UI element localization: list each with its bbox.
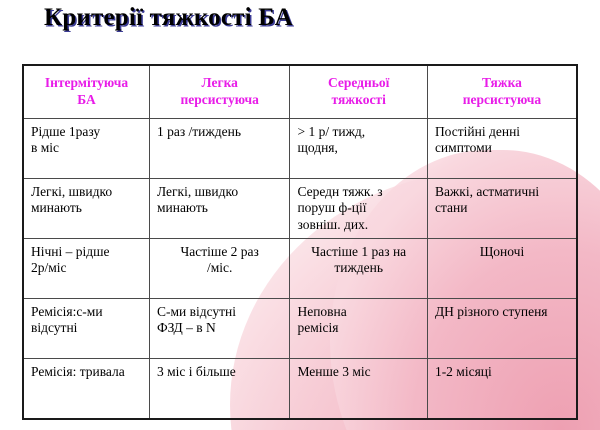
table-cell-line: симптоми	[435, 140, 569, 156]
table-cell-line: Ремісія:с-ми	[31, 304, 142, 320]
table-cell-line: Рідше 1разу	[31, 124, 142, 140]
table-row: Рідше 1разу в міс1 раз /тиждень> 1 р/ ти…	[23, 119, 577, 179]
column-header-line: Інтермітуюча	[28, 75, 145, 92]
table-cell: ДН різного ступеня	[427, 299, 577, 359]
table-cell-line: > 1 р/ тижд,	[297, 124, 419, 140]
table-column-header-2: Легкаперсистуюча	[149, 65, 290, 119]
page-title: Критерії тяжкості БА	[44, 4, 293, 32]
table-cell-line: Легкі, швидко	[157, 184, 283, 200]
table-cell: Неповнаремісія	[290, 299, 427, 359]
table-cell: Нічні – рідше2р/міс	[23, 239, 149, 299]
table-cell: Ремісія: тривала	[23, 359, 149, 420]
table-cell-line: зовніш. дих.	[297, 217, 419, 233]
column-header-line: БА	[28, 92, 145, 109]
table-cell-line: 1 раз /тиждень	[157, 124, 283, 140]
table-cell-line: 2р/міс	[31, 260, 142, 276]
table-cell: Частіше 2 раз/міс.	[149, 239, 290, 299]
column-header-line: Середньої	[294, 75, 422, 92]
table-cell-line: 3 міс і більше	[157, 364, 283, 380]
table-cell: С-ми відсутніФЗД – в N	[149, 299, 290, 359]
column-header-line: персистуюча	[154, 92, 286, 109]
table-cell-line: Неповна	[297, 304, 419, 320]
slide-canvas: Критерії тяжкості БА ІнтермітуючаБАЛегка…	[0, 0, 600, 430]
column-header-line: тяжкості	[294, 92, 422, 109]
table-header: ІнтермітуючаБАЛегкаперсистуючаСередньоїт…	[23, 65, 577, 119]
table-cell-line: Щоночі	[435, 244, 569, 260]
table-cell-line: Менше 3 міс	[297, 364, 419, 380]
table-cell-line: Нічні – рідше	[31, 244, 142, 260]
table-cell: Важкі, астматичністани	[427, 179, 577, 239]
table-column-header-1: ІнтермітуючаБА	[23, 65, 149, 119]
table-cell: 3 міс і більше	[149, 359, 290, 420]
table-cell: Частіше 1 раз натиждень	[290, 239, 427, 299]
table-row: Ремісія: тривала3 міс і більшеМенше 3 мі…	[23, 359, 577, 420]
table-cell: 1-2 місяці	[427, 359, 577, 420]
table-cell-line: Частіше 1 раз на	[297, 244, 419, 260]
table-cell-line: тиждень	[297, 260, 419, 276]
table-cell-line: Постійні денні	[435, 124, 569, 140]
table-cell-line: Легкі, швидко	[31, 184, 142, 200]
table-cell-line: ДН різного ступеня	[435, 304, 569, 320]
severity-criteria-table: ІнтермітуючаБАЛегкаперсистуючаСередньоїт…	[22, 64, 578, 420]
table-cell-line: минають	[31, 200, 142, 216]
table-cell: Постійні деннісимптоми	[427, 119, 577, 179]
table-cell-line: стани	[435, 200, 569, 216]
table-cell: Ремісія:с-мивідсутні	[23, 299, 149, 359]
table-cell: Легкі, швидкоминають	[23, 179, 149, 239]
table-cell-line: в міс	[31, 140, 142, 156]
column-header-line: Легка	[154, 75, 286, 92]
table-cell-line: 1-2 місяці	[435, 364, 569, 380]
table-cell-line: ремісія	[297, 320, 419, 336]
table-body: Рідше 1разу в міс1 раз /тиждень> 1 р/ ти…	[23, 119, 577, 420]
table-cell-line: минають	[157, 200, 283, 216]
table-cell: 1 раз /тиждень	[149, 119, 290, 179]
column-header-line: персистуюча	[432, 92, 572, 109]
table-cell: > 1 р/ тижд,щодня,	[290, 119, 427, 179]
table-column-header-3: Середньоїтяжкості	[290, 65, 427, 119]
table-cell-line: щодня,	[297, 140, 419, 156]
table-cell: Середн тяжк. зпоруш ф-ціїзовніш. дих.	[290, 179, 427, 239]
column-header-line: Тяжка	[432, 75, 572, 92]
table-cell: Рідше 1разу в міс	[23, 119, 149, 179]
table-cell: Менше 3 міс	[290, 359, 427, 420]
table-cell-line: Ремісія: тривала	[31, 364, 142, 380]
table-cell-line: С-ми відсутні	[157, 304, 283, 320]
table-row: Ремісія:с-мивідсутніС-ми відсутніФЗД – в…	[23, 299, 577, 359]
table-cell-line: Частіше 2 раз	[157, 244, 283, 260]
table-cell-line: /міс.	[157, 260, 283, 276]
table-header-row: ІнтермітуючаБАЛегкаперсистуючаСередньоїт…	[23, 65, 577, 119]
table-cell-line: поруш ф-ції	[297, 200, 419, 216]
table-cell-line: ФЗД – в N	[157, 320, 283, 336]
table-cell-line: Важкі, астматичні	[435, 184, 569, 200]
table-cell-line: відсутні	[31, 320, 142, 336]
table-cell-line: Середн тяжк. з	[297, 184, 419, 200]
table-cell: Легкі, швидкоминають	[149, 179, 290, 239]
table-cell: Щоночі	[427, 239, 577, 299]
table-column-header-4: Тяжкаперсистуюча	[427, 65, 577, 119]
table-row: Легкі, швидкоминаютьЛегкі, швидкоминають…	[23, 179, 577, 239]
table-row: Нічні – рідше2р/місЧастіше 2 раз/міс.Час…	[23, 239, 577, 299]
